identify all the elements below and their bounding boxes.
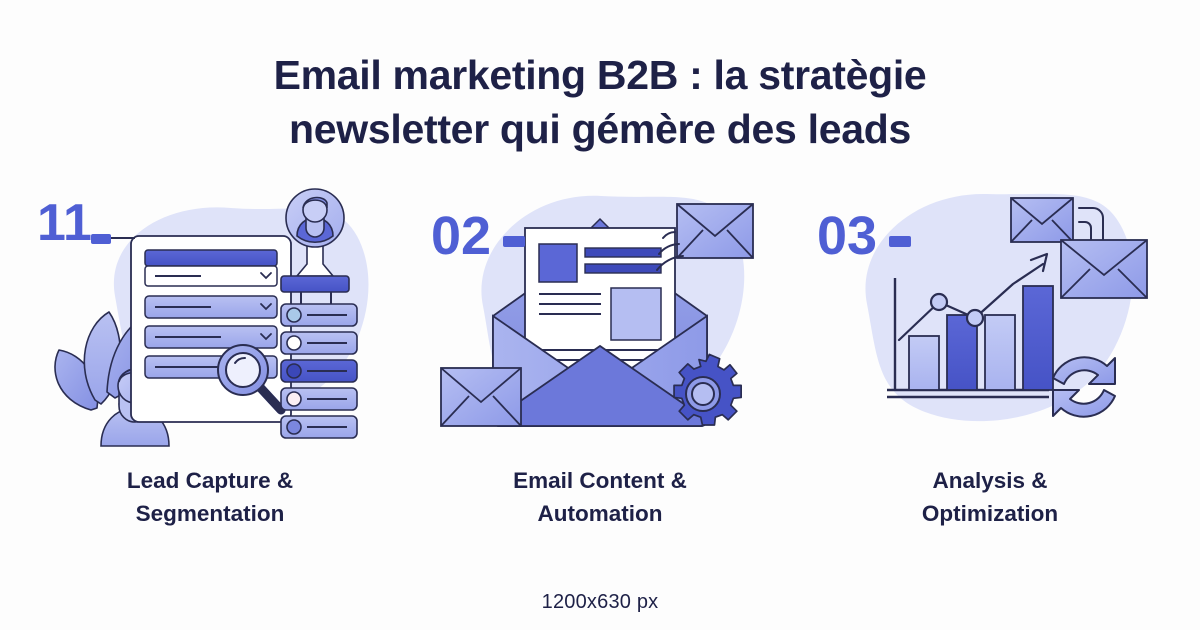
list-item-selected: [281, 360, 357, 382]
step-2-illustration: 02: [425, 178, 775, 448]
step-1-caption: Lead Capture & Segmentation: [127, 464, 293, 530]
contact-list-icon: [281, 304, 357, 438]
page-title-line-2: newsletter qui gémère des leads: [70, 102, 1130, 156]
bar: [1023, 286, 1053, 390]
number-connector-icon: [889, 236, 911, 247]
list-item: [281, 416, 357, 438]
dropdown-field-icon: [145, 266, 277, 286]
doc-image-block: [539, 244, 577, 282]
step-card-3: 03 Analysis & Optimization: [795, 178, 1185, 530]
envelope-icon: [1011, 198, 1073, 242]
number-connector-icon: [503, 236, 525, 247]
envelope-icon: [1061, 240, 1147, 298]
bar: [909, 336, 939, 390]
list-item: [281, 304, 357, 326]
step-card-1: 11 Lead Capture & Segmentation: [15, 178, 405, 530]
envelope-icon: [441, 368, 521, 426]
step-number-1: 11: [37, 194, 92, 252]
doc-image-block: [611, 288, 661, 340]
page-title: Email marketing B2B : la stratègie newsl…: [70, 48, 1130, 156]
dimensions-label: 1200x630 px: [0, 591, 1200, 614]
dropdown-field-icon: [145, 326, 277, 348]
list-item: [281, 388, 357, 410]
step-number-3: 03: [817, 206, 877, 266]
steps-row: 11 Lead Capture & Segmentation: [0, 178, 1200, 530]
number-connector-icon: [91, 234, 135, 244]
bar: [985, 315, 1015, 390]
infographic-page: Email marketing B2B : la stratègie newsl…: [0, 0, 1200, 630]
form-header-bar: [145, 250, 277, 266]
page-title-line-1: Email marketing B2B : la stratègie: [70, 48, 1130, 102]
step-2-caption: Email Content & Automation: [513, 464, 687, 530]
step-3-illustration: 03: [815, 178, 1165, 448]
envelope-icon: [677, 204, 753, 258]
dropdown-field-icon: [145, 296, 277, 318]
stand-base: [281, 276, 349, 292]
step-card-2: 02 Email Content & Automation: [405, 178, 795, 530]
step-1-illustration: 11: [35, 178, 385, 448]
list-item: [281, 332, 357, 354]
step-3-caption: Analysis & Optimization: [922, 464, 1058, 530]
step-number-2: 02: [431, 206, 491, 266]
